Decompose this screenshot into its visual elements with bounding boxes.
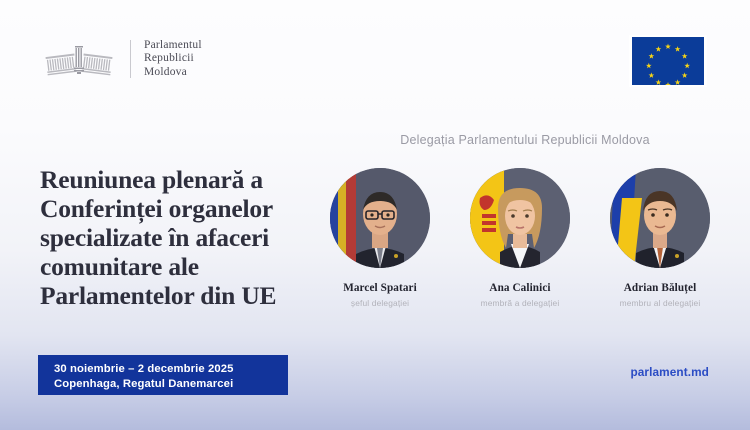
delegation-member: Ana Calinici membră a delegației [460,168,580,308]
event-location: Copenhaga, Regatul Danemarcei [54,377,288,392]
avatar [610,168,710,268]
european-union-flag-icon [629,35,707,87]
member-role: membră a delegației [460,298,580,308]
parliament-brand: Parlamentul Republicii Moldova [42,36,202,82]
member-role: membru al delegației [600,298,720,308]
page-title: Reuniunea plenară a Conferinței organelo… [40,165,340,310]
avatar [330,168,430,268]
member-name: Ana Calinici [460,282,580,294]
parliament-building-icon [42,42,116,76]
website-url[interactable]: parlament.md [630,365,709,379]
brand-divider [130,40,131,78]
delegation-members: Marcel Spatari șeful delegației [320,168,720,308]
parliament-name: Parlamentul Republicii Moldova [144,39,202,79]
member-name: Adrian Băluțel [600,282,720,294]
event-details-box: 30 noiembrie – 2 decembrie 2025 Copenhag… [38,355,288,395]
member-role: șeful delegației [320,298,440,308]
delegation-heading: Delegația Parlamentului Republicii Moldo… [330,133,720,147]
delegation-member: Adrian Băluțel membru al delegației [600,168,720,308]
avatar [470,168,570,268]
event-dates: 30 noiembrie – 2 decembrie 2025 [54,362,288,377]
event-poster: Parlamentul Republicii Moldova Reuniunea… [0,0,750,430]
delegation-member: Marcel Spatari șeful delegației [320,168,440,308]
member-name: Marcel Spatari [320,282,440,294]
